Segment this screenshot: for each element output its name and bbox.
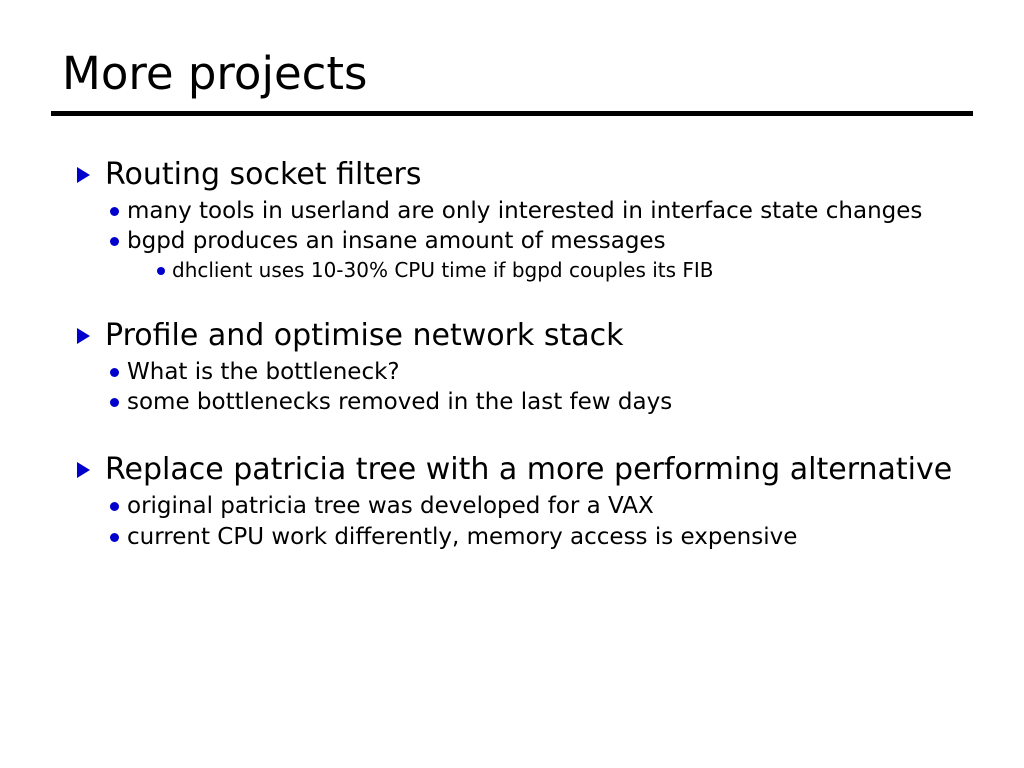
bullet-text: bgpd produces an insane amount of messag… — [127, 228, 666, 254]
slide-body: Routing socket filters many tools in use… — [0, 155, 1024, 552]
bullet-level2: current CPU work differently, memory acc… — [0, 522, 1024, 552]
triangle-bullet-icon — [77, 462, 90, 478]
bullet-text: current CPU work differently, memory acc… — [127, 524, 797, 550]
triangle-bullet-icon — [77, 328, 90, 344]
presentation-slide: More projects Routing socket filters man… — [0, 0, 1024, 768]
dot-bullet-icon — [110, 398, 119, 407]
bullet-level2: bgpd produces an insane amount of messag… — [0, 226, 1024, 256]
bullet-level1: Profile and optimise network stack — [0, 316, 1024, 357]
dot-bullet-icon — [110, 207, 119, 216]
bullet-level1: Replace patricia tree with a more perfor… — [0, 450, 1024, 491]
page-title: More projects — [62, 50, 368, 97]
dot-bullet-icon — [110, 237, 119, 246]
bullet-group: Routing socket filters many tools in use… — [0, 155, 1024, 283]
bullet-level2: some bottlenecks removed in the last few… — [0, 387, 1024, 417]
bullet-level2: What is the bottleneck? — [0, 357, 1024, 387]
bullet-text: Replace patricia tree with a more perfor… — [105, 452, 952, 487]
bullet-text: some bottlenecks removed in the last few… — [127, 389, 672, 415]
dot-bullet-icon — [110, 533, 119, 542]
bullet-text: original patricia tree was developed for… — [127, 493, 654, 519]
bullet-group: Replace patricia tree with a more perfor… — [0, 450, 1024, 552]
bullet-level1: Routing socket filters — [0, 155, 1024, 196]
bullet-text: Routing socket filters — [105, 157, 422, 192]
bullet-level2: many tools in userland are only interest… — [0, 196, 1024, 226]
triangle-bullet-icon — [77, 167, 90, 183]
dot-bullet-icon — [110, 502, 119, 511]
title-divider — [51, 111, 973, 116]
bullet-text: many tools in userland are only interest… — [127, 198, 922, 224]
bullet-level3: dhclient uses 10-30% CPU time if bgpd co… — [0, 257, 1024, 283]
bullet-text: What is the bottleneck? — [127, 359, 400, 385]
dot-bullet-icon — [110, 368, 119, 377]
dot-bullet-icon — [157, 267, 165, 275]
bullet-text: Profile and optimise network stack — [105, 318, 623, 353]
bullet-text: dhclient uses 10-30% CPU time if bgpd co… — [172, 258, 714, 282]
bullet-level2: original patricia tree was developed for… — [0, 491, 1024, 521]
bullet-group: Profile and optimise network stack What … — [0, 316, 1024, 418]
